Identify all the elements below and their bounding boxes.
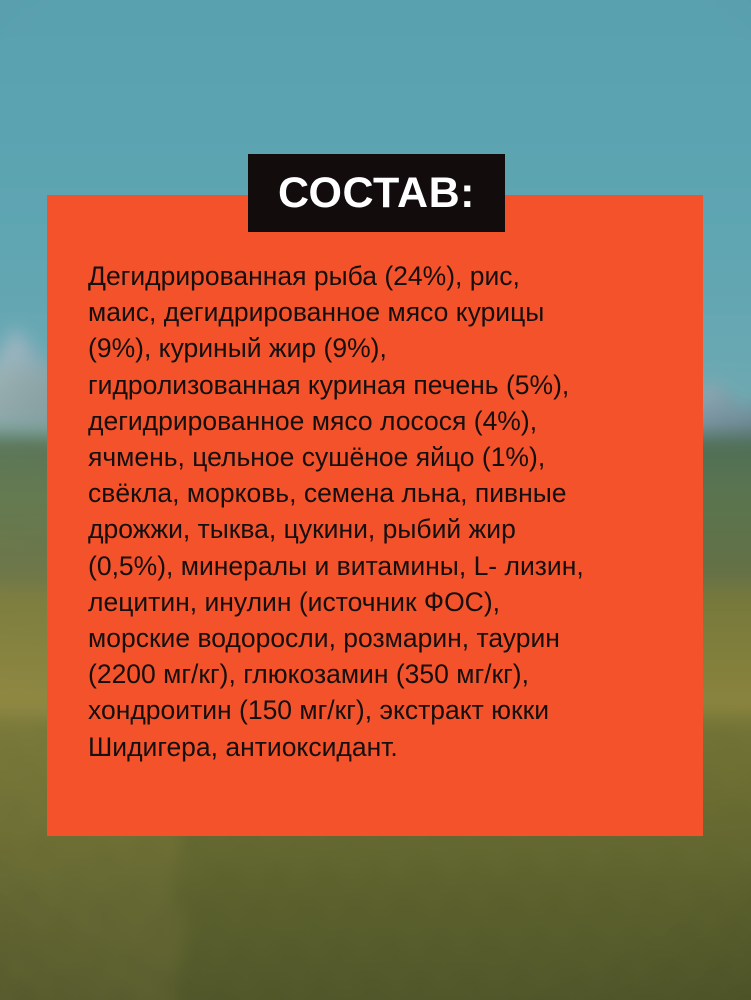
ingredients-line: ячмень, цельное сушёное яйцо (1%), [88, 439, 678, 475]
product-composition-card: СОСТАВ: Дегидрированная рыба (24%), рис,… [0, 0, 751, 1000]
ingredients-line: хондроитин (150 мг/кг), экстракт юкки [88, 692, 678, 728]
ingredients-line: свёкла, морковь, семена льна, пивные [88, 475, 678, 511]
composition-title-plate: СОСТАВ: [248, 154, 505, 232]
ingredients-line: гидролизованная куриная печень (5%), [88, 367, 678, 403]
ingredients-line: Дегидрированная рыба (24%), рис, [88, 258, 678, 294]
ingredients-line: (9%), куриный жир (9%), [88, 330, 678, 366]
ingredients-line: дегидрированное мясо лосося (4%), [88, 403, 678, 439]
ingredients-line: Шидигера, антиоксидант. [88, 729, 678, 765]
ingredients-line: маис, дегидрированное мясо курицы [88, 294, 678, 330]
ingredients-line: морские водоросли, розмарин, таурин [88, 620, 678, 656]
ingredients-text-block: Дегидрированная рыба (24%), рис, маис, д… [88, 258, 678, 765]
ingredients-line: лецитин, инулин (источник ФОС), [88, 584, 678, 620]
ingredients-line: дрожжи, тыква, цукини, рыбий жир [88, 511, 678, 547]
ingredients-line: (0,5%), минералы и витамины, L- лизин, [88, 548, 678, 584]
ingredients-line: (2200 мг/кг), глюкозамин (350 мг/кг), [88, 656, 678, 692]
page-title: СОСТАВ: [278, 172, 475, 215]
